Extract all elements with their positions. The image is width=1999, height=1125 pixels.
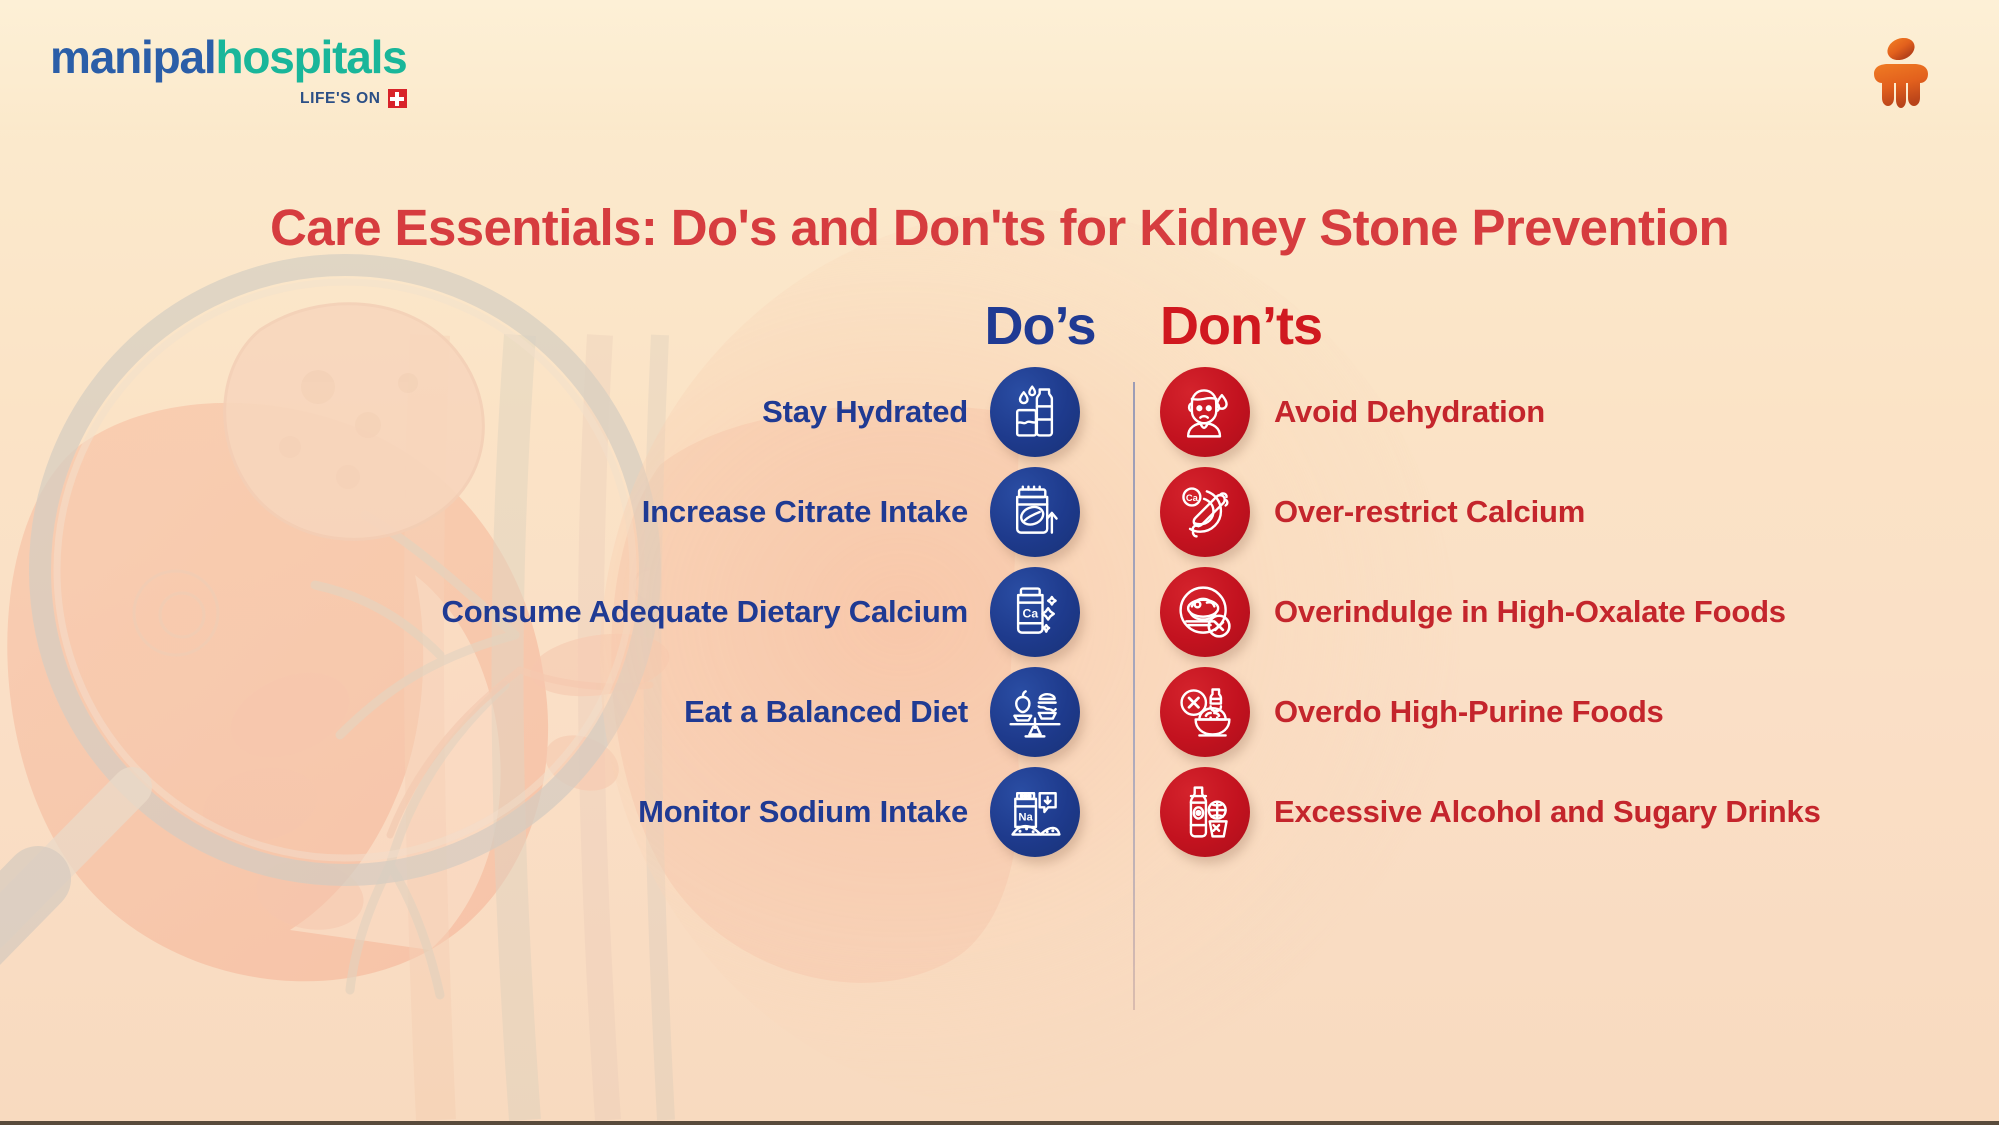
page-title: Care Essentials: Do's and Don'ts for Kid… — [0, 198, 1999, 257]
sodium-shaker-down-arrow-icon: Na — [990, 767, 1080, 857]
svg-text:Ca: Ca — [1023, 607, 1039, 621]
list-item[interactable]: Overindulge in High-Oxalate Foods — [1160, 564, 1960, 660]
water-bottle-glass-icon — [990, 367, 1080, 457]
do-label-consume-adequate-dietary-calcium: Consume Adequate Dietary Calcium — [442, 594, 968, 630]
column-divider — [1133, 382, 1135, 1010]
dont-label-excessive-alcohol-sugary-drinks: Excessive Alcohol and Sugary Drinks — [1274, 794, 1821, 830]
calcium-bone-restricted-icon: Ca — [1160, 467, 1250, 557]
dont-label-over-restrict-calcium: Over-restrict Calcium — [1274, 494, 1585, 530]
logo-wordmark: manipalhospitals — [50, 34, 407, 80]
medical-cross-icon — [388, 89, 407, 108]
manipal-m-mark-icon — [1865, 36, 1937, 110]
manipal-hospitals-logo: manipalhospitals LIFE'S ON — [50, 34, 407, 108]
list-item[interactable]: Stay Hydrated — [280, 364, 1080, 460]
infographic-poster: manipalhospitals LIFE'S ON Care Essentia… — [0, 0, 1999, 1125]
logo-word-hospitals: hospitals — [215, 31, 406, 83]
supplement-jar-up-arrow-icon — [990, 467, 1080, 557]
balance-scale-apple-burger-icon — [990, 667, 1080, 757]
logo-word-manipal: manipal — [50, 31, 215, 83]
list-item[interactable]: Eat a Balanced Diet — [280, 664, 1080, 760]
column-heading-donts: Don’ts — [1160, 295, 1420, 357]
dont-label-avoid-dehydration: Avoid Dehydration — [1274, 394, 1545, 430]
purine-bowl-prohibited-icon — [1160, 667, 1250, 757]
do-label-eat-a-balanced-diet: Eat a Balanced Diet — [684, 694, 968, 730]
do-label-monitor-sodium-intake: Monitor Sodium Intake — [638, 794, 968, 830]
do-label-stay-hydrated: Stay Hydrated — [762, 394, 968, 430]
calcium-jar-icon: Ca — [990, 567, 1080, 657]
svg-text:Na: Na — [1018, 811, 1033, 823]
dont-label-overdo-high-purine-foods: Overdo High-Purine Foods — [1274, 694, 1664, 730]
logo-tagline-row: LIFE'S ON — [50, 89, 407, 108]
do-label-increase-citrate-intake: Increase Citrate Intake — [642, 494, 968, 530]
logo-tagline-text: LIFE'S ON — [300, 90, 381, 108]
dont-label-overindulge-high-oxalate-foods: Overindulge in High-Oxalate Foods — [1274, 594, 1786, 630]
list-item[interactable]: Monitor Sodium Intake Na — [280, 764, 1080, 860]
list-item[interactable]: Consume Adequate Dietary Calcium Ca — [280, 564, 1080, 660]
sweating-person-icon — [1160, 367, 1250, 457]
bottom-edge-line — [0, 1121, 1999, 1125]
column-heading-dos: Do’s — [940, 295, 1140, 357]
list-item[interactable]: Excessive Alcohol and Sugary Drinks — [1160, 764, 1960, 860]
list-item[interactable]: Ca Over-restrict Calcium — [1160, 464, 1960, 560]
svg-text:Ca: Ca — [1186, 493, 1199, 503]
alcohol-sugary-drink-icon — [1160, 767, 1250, 857]
list-item[interactable]: Overdo High-Purine Foods — [1160, 664, 1960, 760]
list-item[interactable]: Avoid Dehydration — [1160, 364, 1960, 460]
oxalate-food-prohibited-icon — [1160, 567, 1250, 657]
list-item[interactable]: Increase Citrate Intake — [280, 464, 1080, 560]
